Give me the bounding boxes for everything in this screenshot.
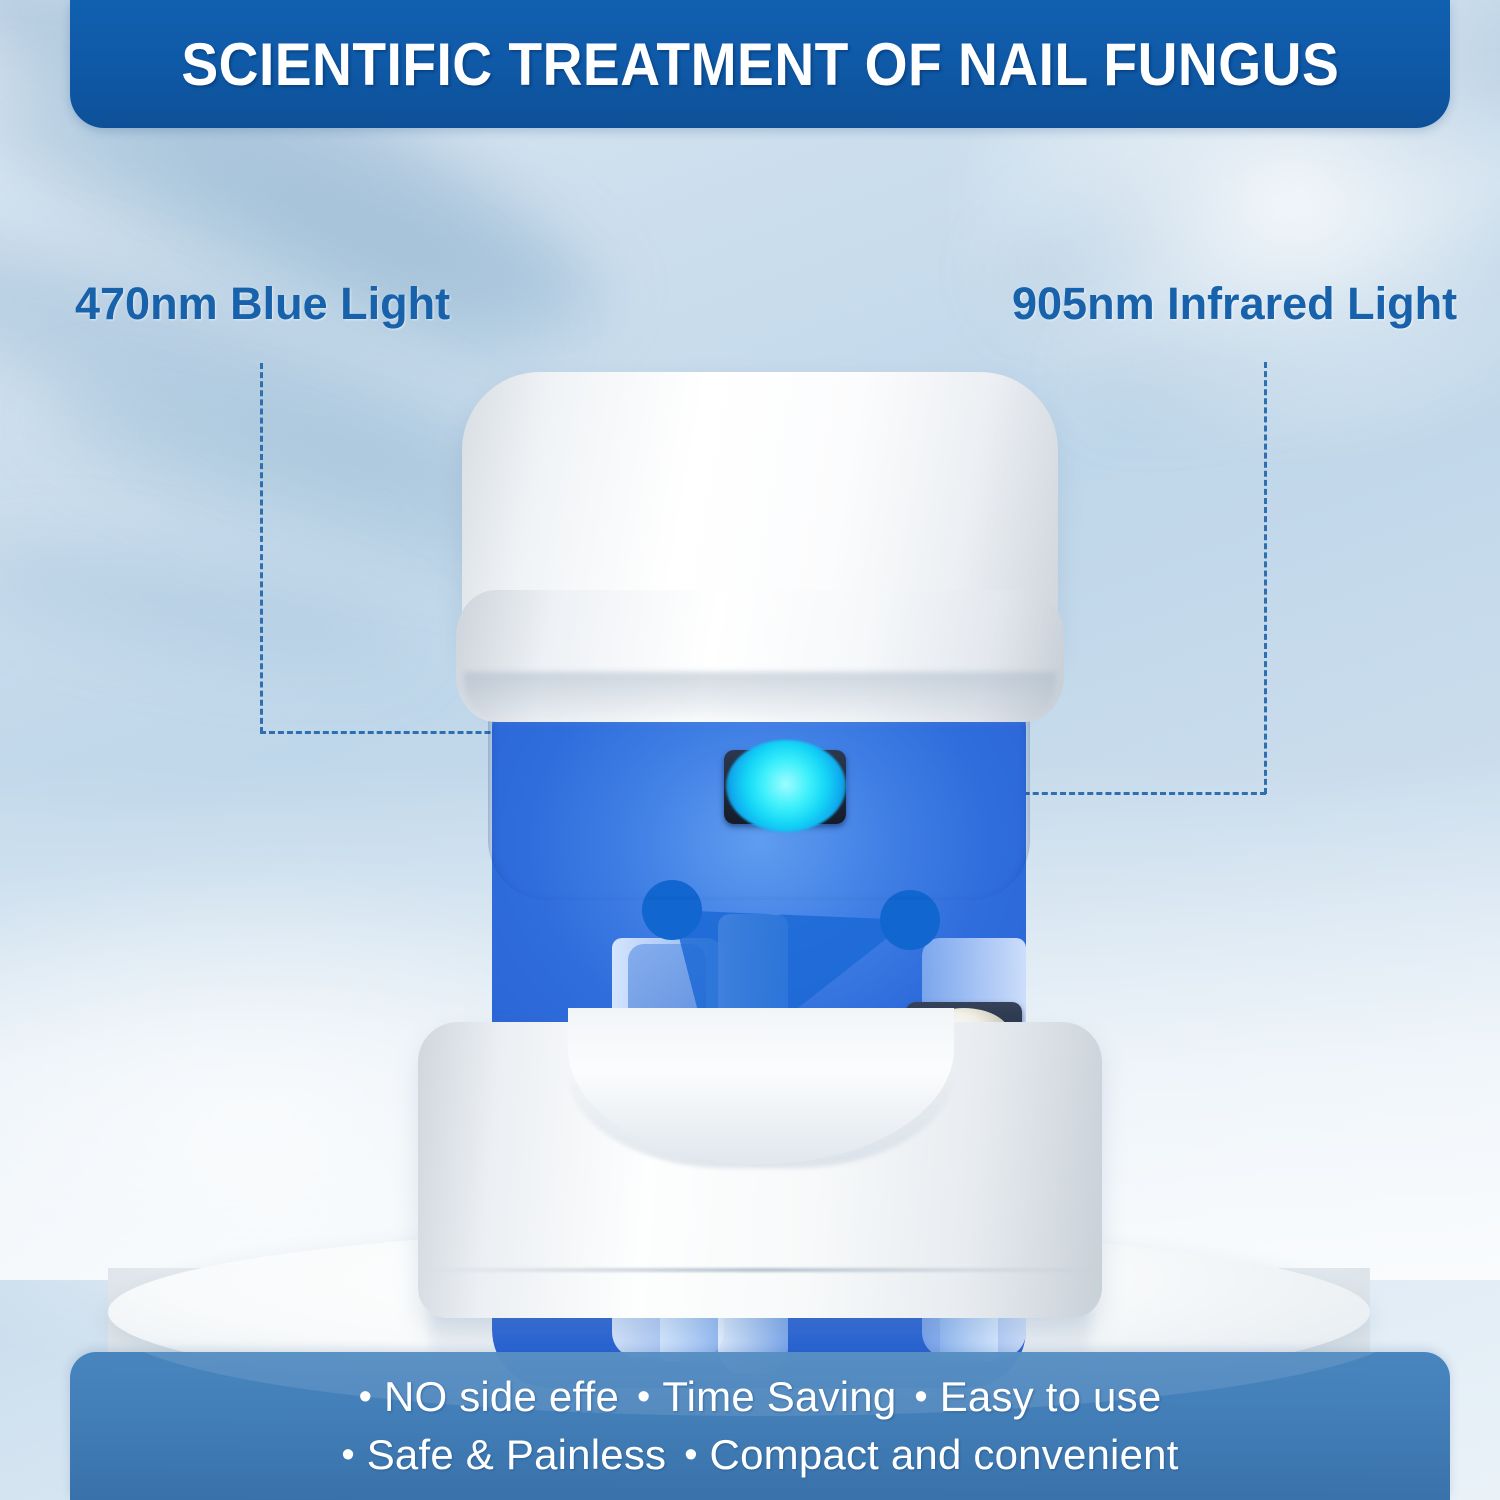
features-banner: • NO side effe • Time Saving • Easy to u… <box>70 1352 1450 1500</box>
feature-compact-convenient: Compact and convenient <box>710 1431 1179 1479</box>
bullet-icon: • <box>684 1436 697 1474</box>
features-list: • NO side effe • Time Saving • Easy to u… <box>70 1352 1450 1500</box>
device-cover-lip-shadow <box>464 672 1056 728</box>
callout-label-blue-light: 470nm Blue Light <box>75 278 450 330</box>
feature-no-side-effects: NO side effe <box>384 1373 619 1421</box>
callout-label-infrared-light: 905nm Infrared Light <box>1012 278 1457 330</box>
blue-led-glow-bottom-left <box>726 740 846 832</box>
device-base-seam <box>426 1268 1094 1272</box>
feature-easy-to-use: Easy to use <box>940 1373 1162 1421</box>
features-row-1: • NO side effe • Time Saving • Easy to u… <box>359 1373 1162 1421</box>
background-leaf-shadow <box>0 521 424 690</box>
bullet-icon: • <box>341 1436 354 1474</box>
features-row-2: • Safe & Painless • Compact and convenie… <box>341 1431 1178 1479</box>
feature-time-saving: Time Saving <box>662 1373 896 1421</box>
feature-safe-painless: Safe & Painless <box>367 1431 667 1479</box>
bullet-icon: • <box>359 1378 372 1416</box>
bullet-icon: • <box>637 1378 650 1416</box>
leader-line-blue-vertical <box>260 363 263 733</box>
title-banner: SCIENTIFIC TREATMENT OF NAIL FUNGUS <box>70 0 1450 128</box>
product-device <box>400 372 1120 1312</box>
page-title: SCIENTIFIC TREATMENT OF NAIL FUNGUS <box>181 30 1339 99</box>
leader-line-infrared-vertical <box>1264 362 1267 794</box>
product-marketing-image: SCIENTIFIC TREATMENT OF NAIL FUNGUS 470n… <box>0 0 1500 1500</box>
bullet-icon: • <box>914 1378 927 1416</box>
